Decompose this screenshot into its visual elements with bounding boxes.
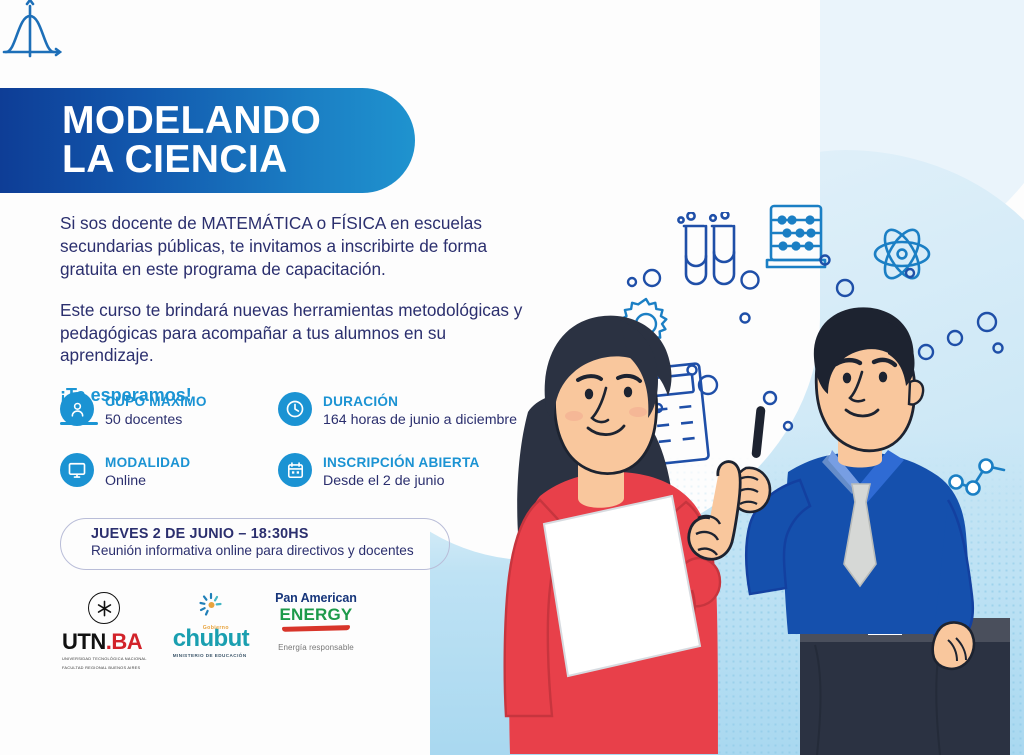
chubut-gobierno-label: Gobierno — [203, 626, 229, 631]
teachers-illustration — [470, 300, 1024, 755]
logo-strip: UTN.BA UNIVERSIDAD TECNOLÓGICA NACIONAL … — [62, 592, 357, 670]
title-line-2: LA CIENCIA — [62, 141, 415, 179]
info-value: Online — [105, 473, 146, 489]
woman-with-paper-illustration — [505, 316, 741, 754]
info-item-cupo-maximo: CUPO MÁXIMO 50 docentes — [60, 392, 278, 429]
utn-name-black: UTN — [62, 629, 106, 654]
pan-american-energy-logo: Pan American ENERGY Energía responsable — [275, 592, 357, 652]
calendar-icon — [278, 453, 312, 487]
pae-tagline: Energía responsable — [278, 643, 354, 652]
title-line-1: MODELANDO — [62, 102, 415, 140]
paragraph-1: Si sos docente de MATEMÁTICA o FÍSICA en… — [60, 212, 530, 281]
info-item-modalidad: MODALIDAD Online — [60, 453, 278, 490]
info-label: MODALIDAD — [105, 455, 190, 470]
paragraph-2: Este curso te brindará nuevas herramient… — [60, 299, 530, 368]
utn-subtitle-line-2: FACULTAD REGIONAL BUENOS AIRES — [62, 665, 147, 671]
man-with-pen-illustration — [732, 307, 1010, 755]
info-label: INSCRIPCIÓN ABIERTA — [323, 455, 480, 470]
info-grid: CUPO MÁXIMO 50 docentes DURACIÓN 164 hor… — [60, 392, 530, 491]
utn-emblem-icon — [88, 592, 120, 624]
info-item-duracion: DURACIÓN 164 horas de junio a diciembre — [278, 392, 530, 429]
poster-canvas: MODELANDO LA CIENCIA Si sos docente de M… — [0, 0, 1024, 755]
clock-icon — [278, 392, 312, 426]
sunburst-icon — [198, 592, 224, 623]
pae-swoosh-icon — [282, 625, 350, 632]
info-item-inscripcion-abierta: INSCRIPCIÓN ABIERTA Desde el 2 de junio — [278, 453, 530, 490]
pae-line-2: ENERGY — [279, 606, 352, 624]
info-label: CUPO MÁXIMO — [105, 394, 207, 409]
info-session-date-box: JUEVES 2 DE JUNIO – 18:30HS Reunión info… — [60, 518, 450, 570]
info-value: Desde el 2 de junio — [323, 473, 444, 489]
chubut-logo: Gobierno chubut MINISTERIO DE EDUCACIÓN — [173, 592, 249, 659]
info-session-subtitle: Reunión informativa online para directiv… — [91, 543, 449, 558]
bell-curve-icon — [0, 0, 62, 62]
info-label: DURACIÓN — [323, 394, 398, 409]
chubut-ministry-label: MINISTERIO DE EDUCACIÓN — [173, 654, 249, 659]
title-banner: MODELANDO LA CIENCIA — [0, 88, 415, 193]
user-icon — [60, 392, 94, 426]
info-value: 50 docentes — [105, 412, 182, 428]
pae-line-1: Pan American — [275, 592, 357, 606]
utn-name-red: .BA — [106, 629, 142, 654]
utn-ba-logo: UTN.BA UNIVERSIDAD TECNOLÓGICA NACIONAL … — [62, 592, 147, 670]
info-value: 164 horas de junio a diciembre — [323, 412, 517, 428]
utn-subtitle-line-1: UNIVERSIDAD TECNOLÓGICA NACIONAL — [62, 656, 147, 662]
info-session-title: JUEVES 2 DE JUNIO – 18:30HS — [91, 526, 449, 542]
monitor-icon — [60, 453, 94, 487]
